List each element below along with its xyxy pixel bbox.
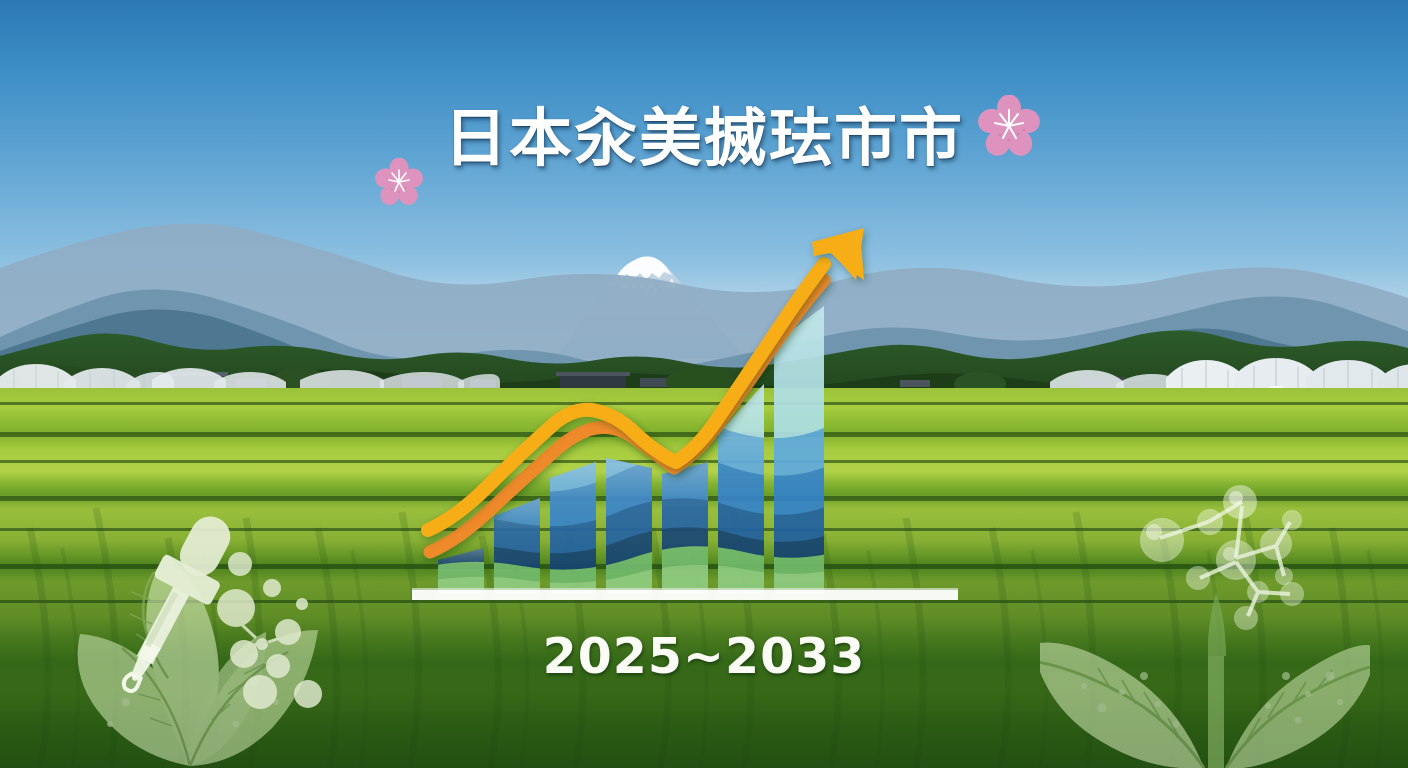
cherry-blossom-icon [375,158,423,206]
cherry-blossom-icon [978,95,1040,157]
growth-bar-chart [412,222,958,602]
period-label: 2025~2033 [543,628,866,685]
report-banner: 日本汆美搣珐市市 [0,0,1408,768]
molecule-structure-icon [1141,485,1303,629]
period-label-wrap: 2025~2033 [0,628,1408,685]
page-title: 日本汆美搣珐市市 [444,104,964,175]
baseline-axis [412,588,958,600]
banner-title-wrap: 日本汆美搣珐市市 [0,104,1408,175]
molecule-plant-decor [1040,480,1370,768]
